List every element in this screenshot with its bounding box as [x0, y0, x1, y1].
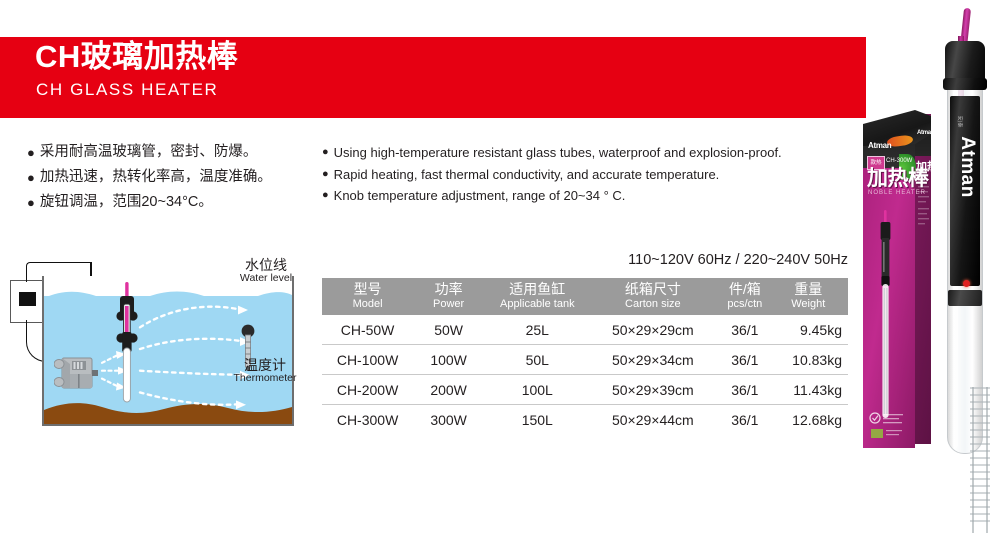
bullet-dot-icon: ● [27, 140, 35, 165]
aquarium-diagram: 水位线 Water level 温度计 Thermometer [10, 258, 310, 433]
product-box: Atman Atman 款热 CH-300W 加热棒 NOBLE HEATER … [863, 110, 931, 448]
cell-pcs: 36/1 [715, 315, 774, 345]
heater-product: Atman 安)泰 [933, 8, 995, 460]
page-title-en: CH GLASS HEATER [36, 81, 218, 98]
feature-text: 采用耐高温玻璃管，密封、防爆。 [40, 140, 258, 165]
heater-indicator-light [963, 280, 970, 287]
box-side-brand-logo: Atman [917, 130, 934, 136]
column-header-model: 型号 Model [322, 278, 413, 315]
column-header-power: 功率 Power [413, 278, 484, 315]
cell-tank: 25L [484, 315, 590, 345]
cell-power: 300W [413, 404, 484, 434]
label-thermometer: 温度计 Thermometer [220, 358, 310, 385]
feature-text: Rapid heating, fast thermal conductivity… [334, 164, 720, 186]
table-row: CH-100W 100W 50L 50×29×34cm 36/1 10.83kg [322, 344, 848, 374]
box-heater-illustration [879, 210, 892, 420]
voltage-spec: 110~120V 60Hz / 220~240V 50Hz [322, 252, 848, 268]
cell-power: 200W [413, 374, 484, 404]
heater-brand-label: Atman 安)泰 [950, 96, 980, 286]
cell-weight: 11.43kg [774, 374, 848, 404]
cell-carton: 50×29×39cm [590, 374, 715, 404]
heater-label-fineprint: 安)泰 [957, 82, 964, 162]
bullet-dot-icon: ● [322, 185, 329, 207]
cell-tank: 100L [484, 374, 590, 404]
cell-weight: 10.83kg [774, 344, 848, 374]
tube-inner-line-left [972, 387, 974, 533]
box-brand-logo: Atman [868, 141, 891, 150]
feature-item: ● Rapid heating, fast thermal conductivi… [322, 164, 852, 186]
feature-text: Using high-temperature resistant glass t… [334, 142, 782, 164]
column-header-applicable-tank: 适用鱼缸 Applicable tank [484, 278, 590, 315]
cell-carton: 50×29×34cm [590, 344, 715, 374]
table-header-row: 型号 Model 功率 Power 适用鱼缸 Applicable tank 纸… [322, 278, 848, 315]
bullet-dot-icon: ● [322, 142, 329, 164]
cell-weight: 9.45kg [774, 315, 848, 345]
features-english: ● Using high-temperature resistant glass… [322, 142, 852, 207]
cell-model: CH-200W [322, 374, 413, 404]
cell-pcs: 36/1 [715, 404, 774, 434]
label-water-level: 水位线 Water level [224, 258, 308, 285]
column-header-carton-size: 纸箱尺寸 Carton size [590, 278, 715, 315]
cell-tank: 150L [484, 404, 590, 434]
feature-item: ● 采用耐高温玻璃管，密封、防爆。 [27, 140, 327, 165]
cell-pcs: 36/1 [715, 344, 774, 374]
feature-item: ● Using high-temperature resistant glass… [322, 142, 852, 164]
cell-tank: 50L [484, 344, 590, 374]
product-photo: Atman Atman 款热 CH-300W 加热棒 NOBLE HEATER … [855, 0, 1000, 468]
cell-carton: 50×29×29cm [590, 315, 715, 345]
table-row: CH-300W 300W 150L 50×29×44cm 36/1 12.68k… [322, 404, 848, 434]
feature-item: ● Knob temperature adjustment, range of … [322, 185, 852, 207]
feature-item: ● 旋钮调温，范围20~34°C。 [27, 190, 327, 215]
column-header-pcs-per-ctn: 件/箱 pcs/ctn [715, 278, 774, 315]
cell-model: CH-50W [322, 315, 413, 345]
bullet-dot-icon: ● [322, 164, 329, 186]
feature-text: 加热迅速，热转化率高，温度准确。 [40, 165, 272, 190]
bullet-dot-icon: ● [27, 165, 35, 190]
filter-pump-icon [54, 354, 100, 392]
cell-weight: 12.68kg [774, 404, 848, 434]
cell-power: 50W [413, 315, 484, 345]
table-row: CH-200W 200W 100L 50×29×39cm 36/1 11.43k… [322, 374, 848, 404]
bullet-dot-icon: ● [27, 190, 35, 215]
feature-text: Knob temperature adjustment, range of 20… [334, 185, 626, 207]
features-chinese: ● 采用耐高温玻璃管，密封、防爆。 ● 加热迅速，热转化率高，温度准确。 ● 旋… [27, 140, 327, 215]
box-model-code: CH-300W [886, 158, 912, 164]
specification-table: 型号 Model 功率 Power 适用鱼缸 Applicable tank 纸… [322, 278, 848, 434]
box-side-text-block [917, 182, 930, 302]
page-title-cn: CH玻璃加热棒 [35, 41, 238, 72]
heater-collar [948, 290, 982, 306]
box-footer-graphics [867, 410, 913, 440]
heater-in-tank-icon [116, 282, 138, 404]
power-plug-icon [19, 292, 36, 306]
tube-inner-line-right [986, 387, 988, 533]
feature-text: 旋钮调温，范围20~34°C。 [40, 190, 213, 215]
cell-model: CH-300W [322, 404, 413, 434]
wall-outlet-icon [10, 280, 43, 323]
table-row: CH-50W 50W 25L 50×29×29cm 36/1 9.45kg [322, 315, 848, 345]
fish-tank [42, 276, 294, 426]
cell-power: 100W [413, 344, 484, 374]
cell-model: CH-100W [322, 344, 413, 374]
column-header-weight: 重量 Weight [774, 278, 848, 315]
heater-cap-lip [943, 78, 987, 90]
cell-pcs: 36/1 [715, 374, 774, 404]
feature-item: ● 加热迅速，热转化率高，温度准确。 [27, 165, 327, 190]
cell-carton: 50×29×44cm [590, 404, 715, 434]
